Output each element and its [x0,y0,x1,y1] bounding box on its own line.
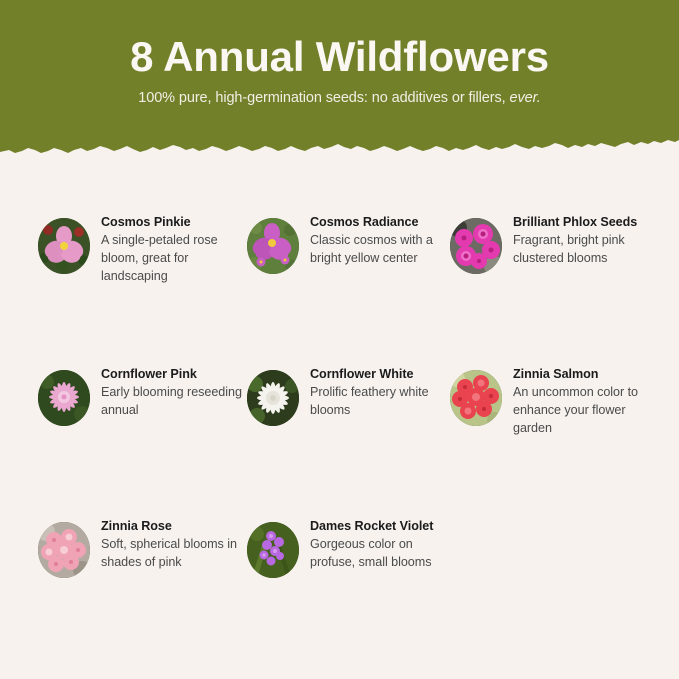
list-item-title: Cornflower White [310,366,452,384]
flower-thumbnail-cosmos-radiance-icon [247,218,299,274]
list-item[interactable]: Zinnia Rose Soft, spherical blooms in sh… [38,504,243,578]
list-item-title: Dames Rocket Violet [310,518,452,536]
subtitle-lead-text: 100% pure, high-germination seeds: no ad… [138,90,509,106]
flower-thumbnail-dames-rocket-violet-icon [247,522,299,578]
list-item-text: Dames Rocket Violet Gorgeous color on pr… [299,504,452,572]
list-item-description: Gorgeous color on profuse, small blooms [310,536,452,572]
flower-thumbnail-brilliant-phlox-icon [450,218,502,274]
list-item-description: Classic cosmos with a bright yellow cent… [310,232,452,268]
page-subtitle: 100% pure, high-germination seeds: no ad… [0,79,679,107]
list-item-text: Cosmos Pinkie A single-petaled rose bloo… [90,200,243,286]
page-title: 8 Annual Wildflowers [0,0,679,79]
list-item-text: Zinnia Salmon An uncommon color to enhan… [502,352,660,438]
list-item[interactable]: Brilliant Phlox Seeds Fragrant, bright p… [450,200,660,274]
list-item-title: Zinnia Rose [101,518,243,536]
list-item-text: Brilliant Phlox Seeds Fragrant, bright p… [502,200,660,268]
flower-thumbnail-cornflower-white-icon [247,370,299,426]
list-item[interactable]: Dames Rocket Violet Gorgeous color on pr… [247,504,452,578]
list-item-text: Cornflower White Prolific feathery white… [299,352,452,420]
list-item[interactable]: Cosmos Radiance Classic cosmos with a br… [247,200,452,274]
list-item-text: Cornflower Pink Early blooming reseeding… [90,352,243,420]
list-item[interactable]: Cornflower Pink Early blooming reseeding… [38,352,243,426]
list-item-description: A single-petaled rose bloom, great for l… [101,232,243,286]
list-item[interactable]: Cosmos Pinkie A single-petaled rose bloo… [38,200,243,286]
list-item-text: Zinnia Rose Soft, spherical blooms in sh… [90,504,243,572]
flower-thumbnail-cosmos-pinkie-icon [38,218,90,274]
list-item-description: Early blooming reseeding annual [101,384,243,420]
list-item-title: Cosmos Radiance [310,214,452,232]
list-item-description: Fragrant, bright pink clustered blooms [513,232,660,268]
header-banner: 8 Annual Wildflowers 100% pure, high-ger… [0,0,679,162]
list-item-description: An uncommon color to enhance your flower… [513,384,660,438]
wildflower-row: Zinnia Rose Soft, spherical blooms in sh… [0,504,679,656]
list-item-title: Zinnia Salmon [513,366,660,384]
flower-thumbnail-zinnia-rose-icon [38,522,90,578]
flower-thumbnail-zinnia-salmon-icon [450,370,502,426]
list-item[interactable]: Zinnia Salmon An uncommon color to enhan… [450,352,660,438]
list-item-title: Cosmos Pinkie [101,214,243,232]
wildflower-row: Cornflower Pink Early blooming reseeding… [0,352,679,504]
flower-thumbnail-cornflower-pink-icon [38,370,90,426]
wildflower-list: Cosmos Pinkie A single-petaled rose bloo… [0,200,679,656]
list-item-text: Cosmos Radiance Classic cosmos with a br… [299,200,452,268]
list-item-description: Soft, spherical blooms in shades of pink [101,536,243,572]
subtitle-emphasis-text: ever. [510,90,541,106]
list-item-title: Cornflower Pink [101,366,243,384]
wildflower-row: Cosmos Pinkie A single-petaled rose bloo… [0,200,679,352]
list-item-description: Prolific feathery white blooms [310,384,452,420]
list-item[interactable]: Cornflower White Prolific feathery white… [247,352,452,426]
list-item-title: Brilliant Phlox Seeds [513,214,660,232]
